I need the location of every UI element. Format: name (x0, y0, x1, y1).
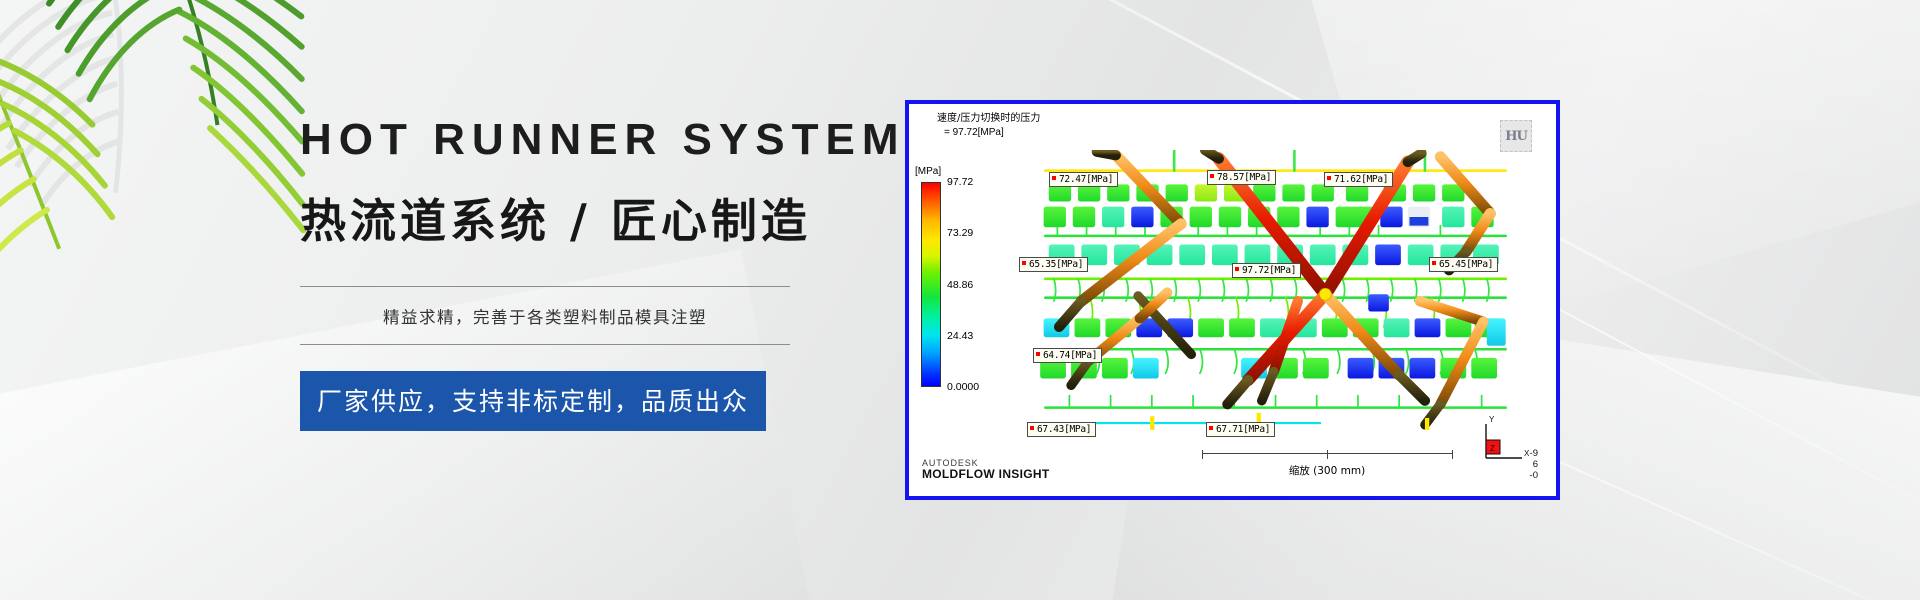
annotation-label: 78.57[MPa] (1207, 170, 1276, 185)
annotation-label: 72.47[MPa] (1049, 172, 1118, 187)
figure-title-line1: 速度/压力切换时的压力 (937, 112, 1040, 126)
legend-tick: 97.72 (947, 176, 973, 188)
page-title-english: HOT RUNNER SYSTEM (300, 118, 860, 162)
legend-tick: 48.86 (947, 279, 973, 291)
legend-tick: 0.0000 (947, 381, 979, 393)
hero-badge[interactable]: 厂家供应，支持非标定制，品质出众 (300, 371, 766, 431)
hero-subtitle: 精益求精，完善于各类塑料制品模具注塑 (300, 287, 790, 344)
triad-values: -9 6 -0 (1530, 449, 1538, 482)
autodesk-logo: AUTODESK MOLDFLOW INSIGHT (922, 458, 1049, 482)
annotation-label: 67.43[MPa] (1027, 422, 1096, 437)
divider-bottom (300, 344, 790, 345)
scale-bar-line (1202, 453, 1452, 461)
annotation-label: 67.71[MPa] (1206, 422, 1275, 437)
hero-banner: HOT RUNNER SYSTEM 热流道系统 / 匠心制造 精益求精，完善于各… (0, 0, 1920, 600)
scale-bar-caption: 缩放 (300 mm) (1202, 463, 1452, 478)
legend-colorbar (921, 182, 941, 387)
moldflow-figure: 速度/压力切换时的压力 = 97.72[MPa] HU [MPa] 97.72 … (905, 100, 1560, 500)
annotation-label: 65.45[MPa] (1429, 257, 1498, 272)
svg-text:Z: Z (1490, 444, 1495, 453)
figure-title: 速度/压力切换时的压力 = 97.72[MPa] (937, 112, 1040, 139)
scale-bar: 缩放 (300 mm) (1202, 453, 1452, 478)
svg-text:Y: Y (1489, 416, 1495, 424)
hero-text-block: HOT RUNNER SYSTEM 热流道系统 / 匠心制造 精益求精，完善于各… (300, 118, 860, 431)
axis-triad: Y X Z -9 6 -0 (1476, 416, 1534, 468)
simulation-plot (1001, 150, 1550, 442)
watermark-icon: HU (1500, 120, 1532, 152)
color-legend: [MPa] 97.72 73.29 48.86 24.43 0.0000 (915, 166, 1001, 387)
page-title-chinese: 热流道系统 / 匠心制造 (300, 198, 860, 244)
annotation-label: 65.35[MPa] (1019, 257, 1088, 272)
annotation-label: 97.72[MPa] (1232, 263, 1301, 278)
legend-tick: 24.43 (947, 330, 973, 342)
legend-tick: 73.29 (947, 227, 973, 239)
triad-value: -0 (1530, 471, 1538, 482)
brand-moldflow-insight: MOLDFLOW INSIGHT (922, 468, 1049, 482)
annotation-label: 71.62[MPa] (1324, 172, 1393, 187)
figure-title-line2: = 97.72[MPa] (937, 126, 1040, 140)
annotation-label: 64.74[MPa] (1033, 348, 1102, 363)
